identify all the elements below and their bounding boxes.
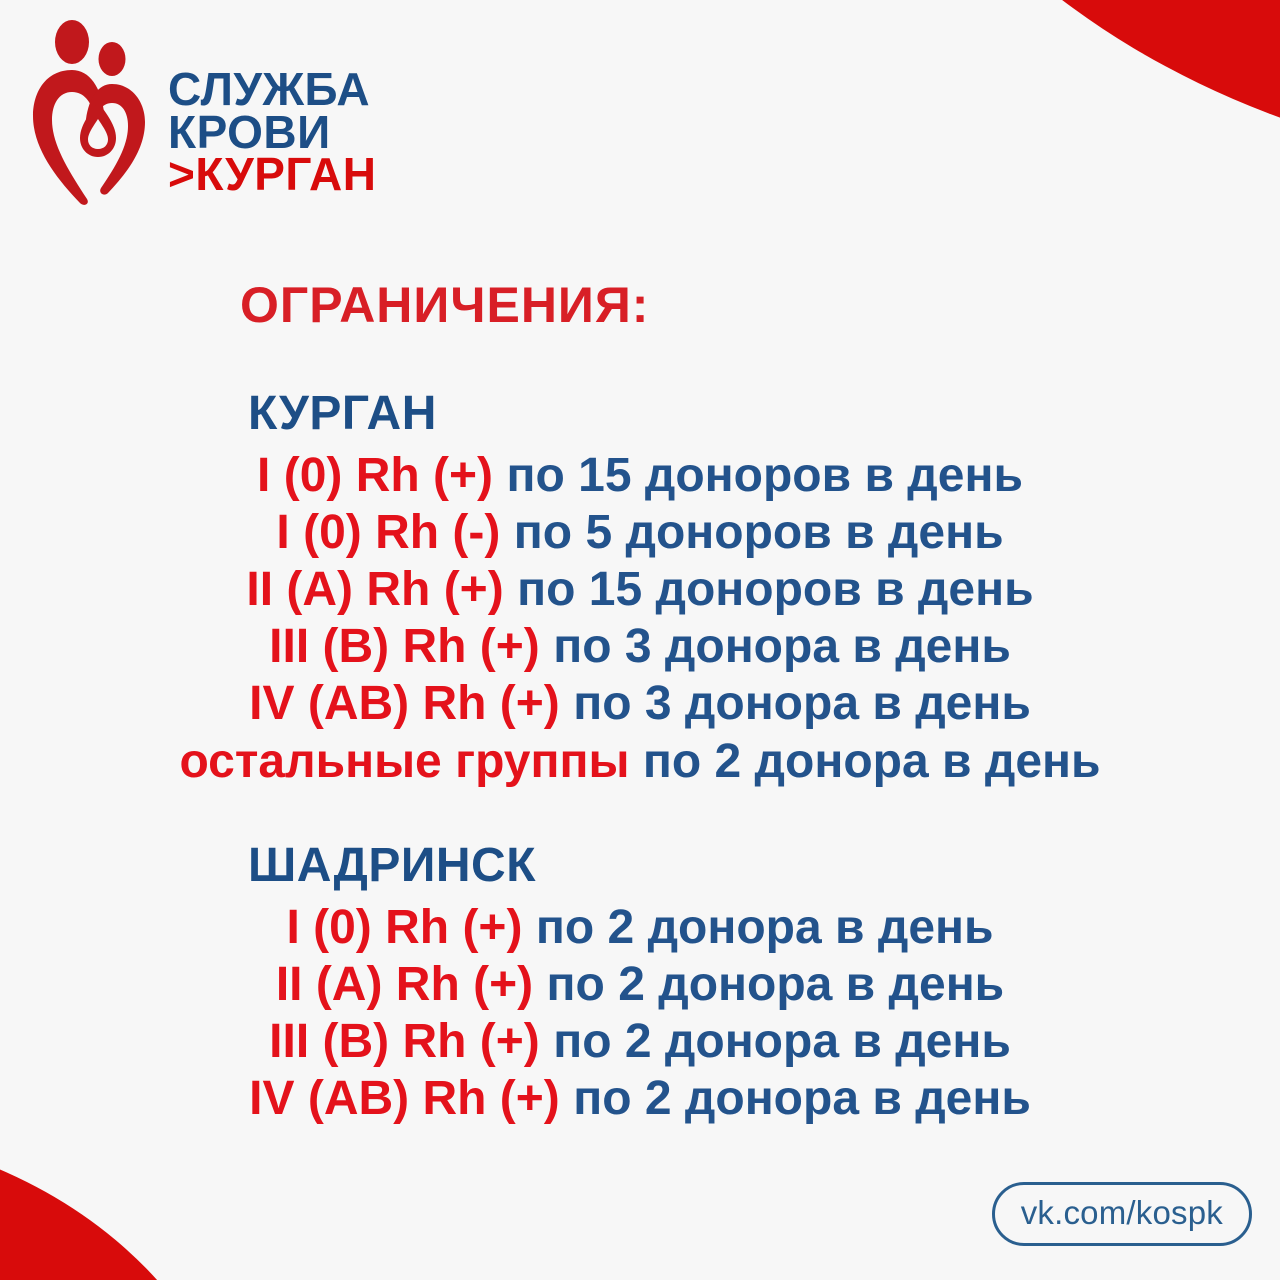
brand-line-sluzhba: СЛУЖБА xyxy=(168,68,377,111)
rule-blood-group: IV (AB) Rh (+) xyxy=(249,1072,560,1125)
rules-list-shadrinsk: I (0) Rh (+)по 2 донора в день II (A) Rh… xyxy=(0,899,1280,1127)
rule-blood-group: III (B) Rh (+) xyxy=(269,620,540,673)
decor-corner-bottom-left xyxy=(0,1127,250,1280)
rule-quantity: по 2 донора в день xyxy=(573,1072,1031,1125)
rule-quantity: по 2 донора в день xyxy=(553,1015,1011,1068)
rule-quantity: по 3 донора в день xyxy=(553,620,1011,673)
rule-quantity: по 5 доноров в день xyxy=(514,506,1004,559)
rule-blood-group: II (A) Rh (+) xyxy=(246,563,503,616)
brand-line-kurgan: >КУРГАН xyxy=(168,153,377,196)
rule-row: I (0) Rh (+)по 2 донора в день xyxy=(0,899,1280,956)
brand-wordmark: СЛУЖБА КРОВИ >КУРГАН xyxy=(168,30,377,196)
rule-quantity: по 2 донора в день xyxy=(547,958,1005,1011)
rule-row: II (A) Rh (+)по 2 донора в день xyxy=(0,956,1280,1013)
section-kurgan: КУРГАН I (0) Rh (+)по 15 доноров в день … xyxy=(0,386,1280,790)
rule-row: I (0) Rh (-)по 5 доноров в день xyxy=(0,504,1280,561)
rule-quantity: по 2 донора в день xyxy=(643,735,1101,788)
blood-service-heart-figures-icon xyxy=(28,18,154,208)
rule-row: II (A) Rh (+)по 15 доноров в день xyxy=(0,561,1280,618)
rule-row: IV (AB) Rh (+)по 2 донора в день xyxy=(0,1070,1280,1127)
poster-canvas: СЛУЖБА КРОВИ >КУРГАН ОГРАНИЧЕНИЯ: КУРГАН… xyxy=(0,0,1280,1280)
rule-blood-group: III (B) Rh (+) xyxy=(269,1015,540,1068)
rule-blood-group: I (0) Rh (+) xyxy=(286,901,522,954)
rule-quantity: по 2 донора в день xyxy=(536,901,994,954)
city-heading-shadrinsk: ШАДРИНСК xyxy=(248,838,1280,893)
section-spacer xyxy=(0,790,1280,838)
decor-corner-top-right xyxy=(810,0,1280,175)
rule-row: I (0) Rh (+)по 15 доноров в день xyxy=(0,447,1280,504)
city-heading-kurgan: КУРГАН xyxy=(248,386,1280,441)
rule-quantity: по 15 доноров в день xyxy=(506,449,1022,502)
section-shadrinsk: ШАДРИНСК I (0) Rh (+)по 2 донора в день … xyxy=(0,838,1280,1127)
rule-blood-group: I (0) Rh (-) xyxy=(276,506,500,559)
rule-quantity: по 15 доноров в день xyxy=(517,563,1033,616)
rules-list-kurgan: I (0) Rh (+)по 15 доноров в день I (0) R… xyxy=(0,447,1280,790)
rule-row: III (B) Rh (+)по 2 донора в день xyxy=(0,1013,1280,1070)
rule-row: остальные группыпо 2 донора в день xyxy=(0,733,1280,790)
rule-blood-group: II (A) Rh (+) xyxy=(276,958,533,1011)
rule-row: III (B) Rh (+)по 3 донора в день xyxy=(0,618,1280,675)
vk-link-badge[interactable]: vk.com/kospk xyxy=(992,1182,1252,1246)
rule-blood-group: остальные группы xyxy=(179,735,629,788)
brand-line-krovi: КРОВИ xyxy=(168,111,377,154)
rule-blood-group: I (0) Rh (+) xyxy=(257,449,493,502)
content-area: ОГРАНИЧЕНИЯ: КУРГАН I (0) Rh (+)по 15 до… xyxy=(0,276,1280,1127)
rule-row: IV (AB) Rh (+)по 3 донора в день xyxy=(0,675,1280,732)
rule-blood-group: IV (AB) Rh (+) xyxy=(249,677,560,730)
brand-logo: СЛУЖБА КРОВИ >КУРГАН xyxy=(28,18,377,208)
rule-quantity: по 3 донора в день xyxy=(573,677,1031,730)
page-title: ОГРАНИЧЕНИЯ: xyxy=(240,276,1280,334)
